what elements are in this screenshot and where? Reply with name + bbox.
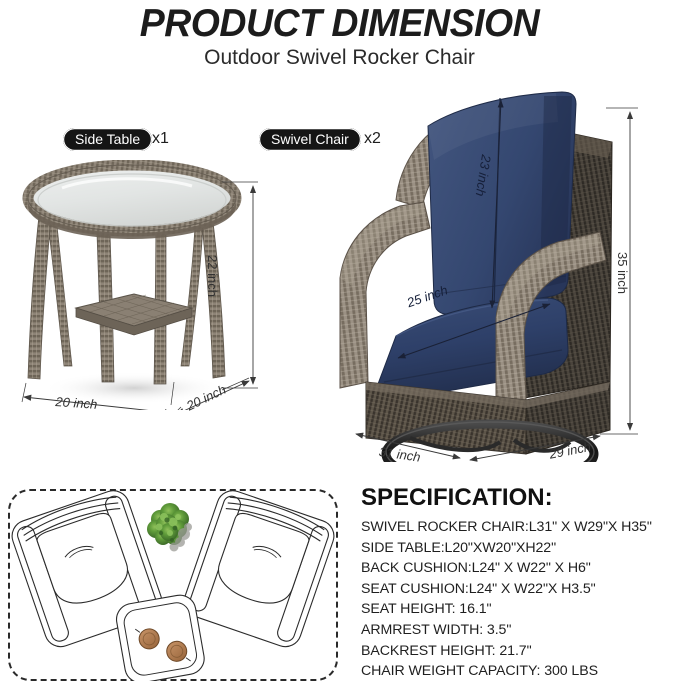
spec-line: SIDE TABLE:L20"XW20"XH22" xyxy=(361,538,677,559)
spec-line: SEAT CUSHION:L24" X W22"X H3.5" xyxy=(361,579,677,600)
side-table-dimension-lines xyxy=(0,160,270,410)
specification-list: SWIVEL ROCKER CHAIR:L31" X W29"X H35" SI… xyxy=(361,517,677,682)
page-subtitle: Outdoor Swivel Rocker Chair xyxy=(0,46,679,70)
spec-line: ARMREST WIDTH: 3.5" xyxy=(361,620,677,641)
product-dimension-infographic: PRODUCT DIMENSION Outdoor Swivel Rocker … xyxy=(0,0,679,688)
side-table-height-label: 22 inch xyxy=(205,255,220,297)
spec-line: BACKREST HEIGHT: 21.7" xyxy=(361,641,677,662)
badge-side-table: Side Table xyxy=(63,128,152,151)
spec-line: SWIVEL ROCKER CHAIR:L31" X W29"X H35" xyxy=(361,517,677,538)
chair-height-label: 35 inch xyxy=(615,252,630,294)
specification-heading: SPECIFICATION: xyxy=(361,484,553,512)
plant-icon xyxy=(147,503,193,552)
spec-line: CHAIR WEIGHT CAPACITY: 300 LBS xyxy=(361,661,677,682)
qty-side-table: x1 xyxy=(152,130,169,148)
page-title: PRODUCT DIMENSION xyxy=(14,2,666,46)
spec-line: BACK CUSHION:L24" X W22" X H6" xyxy=(361,558,677,579)
layout-diagram-illustration xyxy=(8,489,338,681)
spec-line: SEAT HEIGHT: 16.1" xyxy=(361,599,677,620)
side-table-front-width-label: 20 inch xyxy=(55,394,98,412)
